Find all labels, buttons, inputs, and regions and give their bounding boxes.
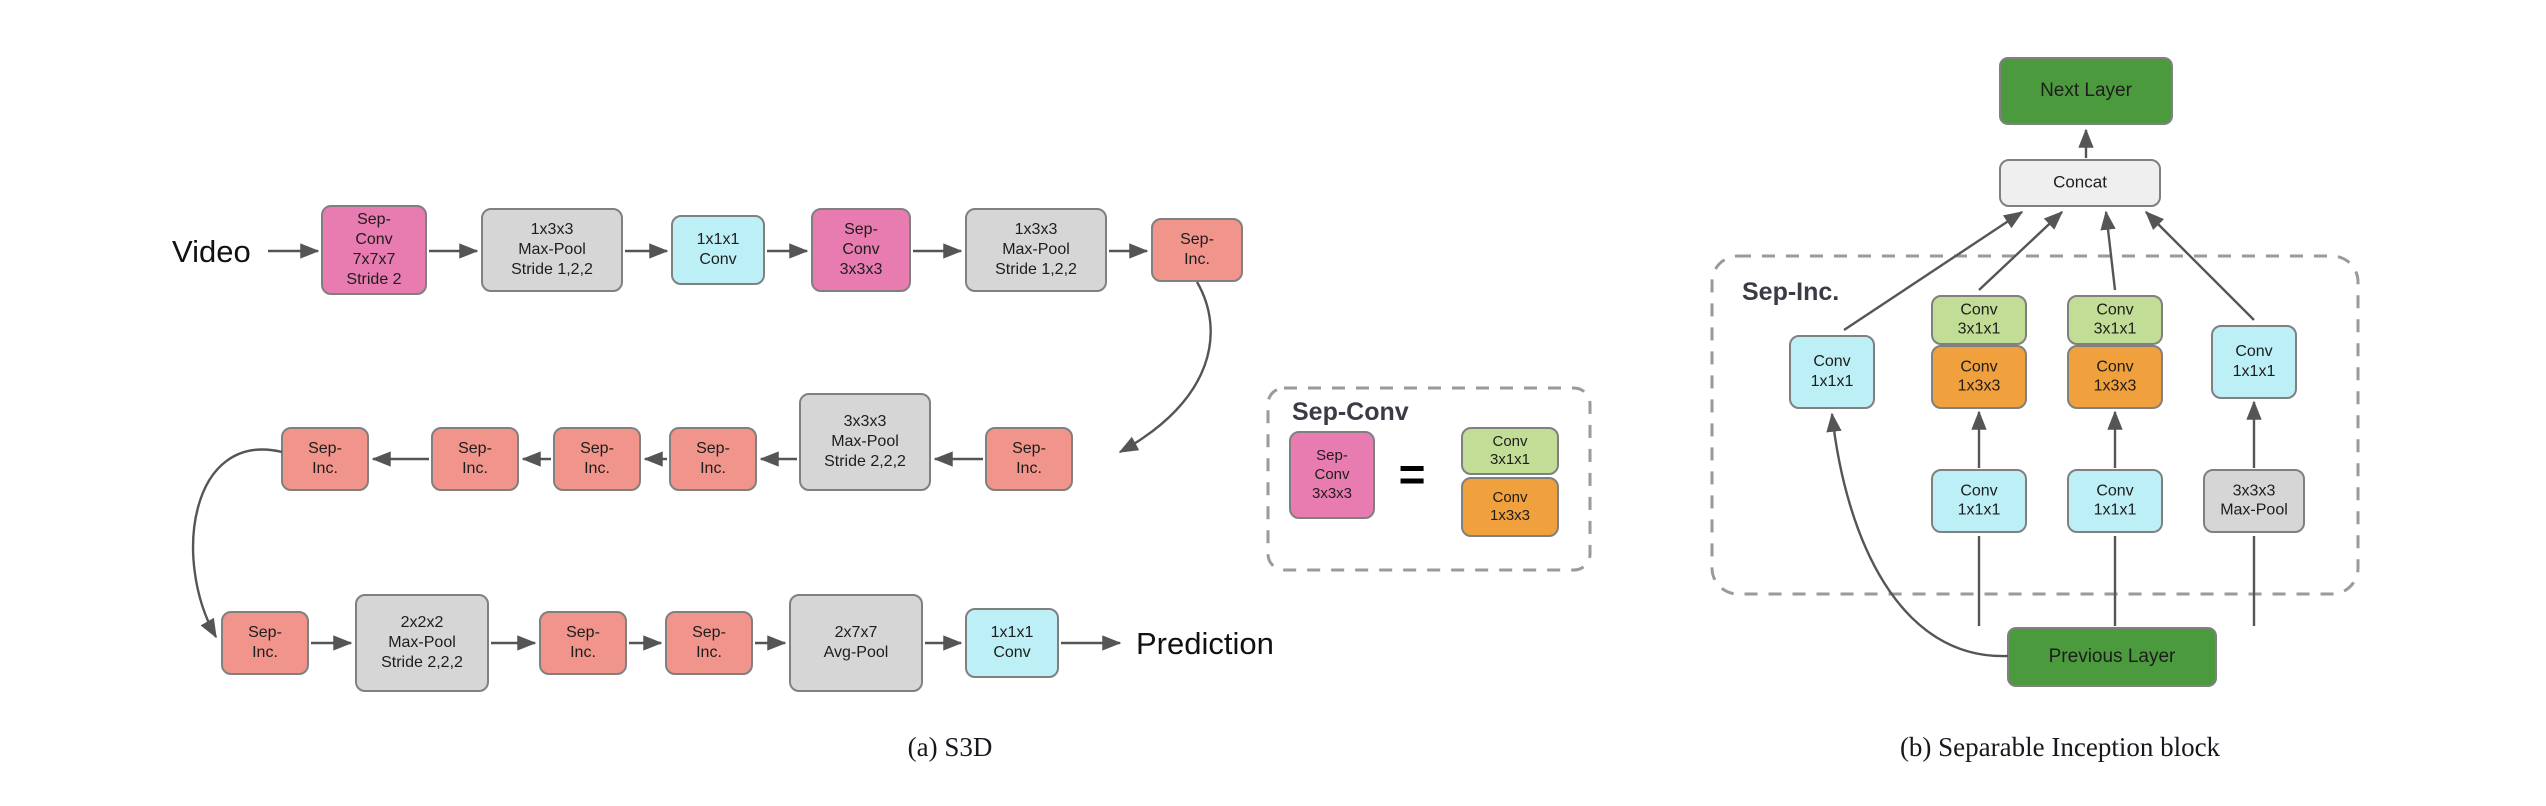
node-next-layer[interactable]: Next Layer bbox=[2000, 58, 2172, 124]
node-concat[interactable]: Concat bbox=[2000, 160, 2160, 206]
node-conv-1x1x1-a-shape bbox=[672, 216, 764, 284]
node-sep-inc-8[interactable]: Sep-Inc. bbox=[540, 612, 626, 674]
node-sep-inc-9-shape bbox=[666, 612, 752, 674]
node-b4-conv-1x1x1-shape bbox=[2212, 326, 2296, 398]
node-maxpool-1x3x3-a-line-1: Max-Pool bbox=[518, 241, 586, 258]
arrow-branch3-to-concat bbox=[2106, 212, 2115, 290]
node-maxpool-1x3x3-a-line-2: Stride 1,2,2 bbox=[511, 261, 593, 278]
node-avgpool-2x7x7-line-0: 2x7x7 bbox=[835, 624, 878, 641]
node-maxpool-1x3x3-b-line-1: Max-Pool bbox=[1002, 241, 1070, 258]
node-b2-conv-1x3x3[interactable]: Conv1x3x3 bbox=[1932, 346, 2026, 408]
node-sep-conv-7x7x7-line-3: Stride 2 bbox=[346, 271, 401, 288]
node-previous-layer-line-0: Previous Layer bbox=[2049, 646, 2176, 667]
node-sep-inc-7-line-0: Sep- bbox=[248, 624, 282, 641]
node-avgpool-2x7x7[interactable]: 2x7x7Avg-Pool bbox=[790, 595, 922, 691]
node-maxpool-3x3x3-line-2: Stride 2,2,2 bbox=[824, 453, 906, 470]
node-b2-conv-3x1x1-line-0: Conv bbox=[1960, 302, 1997, 319]
node-maxpool-1x3x3-b[interactable]: 1x3x3Max-PoolStride 1,2,2 bbox=[966, 209, 1106, 291]
node-b3-conv-3x1x1-line-1: 3x1x1 bbox=[2094, 321, 2137, 338]
node-b2-conv-1x1x1-line-1: 1x1x1 bbox=[1958, 502, 2001, 519]
node-sep-conv-3x3x3-line-1: Conv bbox=[842, 241, 879, 258]
input-label-video: Video bbox=[172, 234, 251, 269]
node-sep-conv-7x7x7-line-0: Sep- bbox=[357, 211, 391, 228]
legend-title: Sep-Conv bbox=[1292, 398, 1409, 426]
node-b3-conv-1x3x3[interactable]: Conv1x3x3 bbox=[2068, 346, 2162, 408]
node-sep-inc-2-shape bbox=[986, 428, 1072, 490]
node-sep-inc-6-shape bbox=[282, 428, 368, 490]
node-sep-conv-3x3x3-line-2: 3x3x3 bbox=[840, 261, 883, 278]
node-conv-1x1x1-final-shape bbox=[966, 609, 1058, 677]
node-b3-conv-1x1x1-line-1: 1x1x1 bbox=[2094, 502, 2137, 519]
node-maxpool-3x3x3-line-0: 3x3x3 bbox=[844, 413, 887, 430]
node-sep-inc-3[interactable]: Sep-Inc. bbox=[670, 428, 756, 490]
node-sep-inc-5-line-0: Sep- bbox=[458, 440, 492, 457]
node-conv-3x1x1-legend-line-0: Conv bbox=[1492, 433, 1528, 450]
node-sep-conv-3x3x3-line-0: Sep- bbox=[844, 221, 878, 238]
node-sep-conv-7x7x7-line-1: Conv bbox=[355, 231, 392, 248]
arrow-wrap-row1-to-row2 bbox=[1120, 282, 1211, 452]
arrow-branch2-to-concat bbox=[1979, 212, 2062, 290]
node-sep-inc-9-line-1: Inc. bbox=[696, 644, 722, 661]
node-maxpool-1x3x3-a[interactable]: 1x3x3Max-PoolStride 1,2,2 bbox=[482, 209, 622, 291]
node-b2-conv-3x1x1[interactable]: Conv3x1x1 bbox=[1932, 296, 2026, 344]
output-label-prediction: Prediction bbox=[1136, 626, 1274, 661]
node-maxpool-2x2x2[interactable]: 2x2x2Max-PoolStride 2,2,2 bbox=[356, 595, 488, 691]
node-avgpool-2x7x7-line-1: Avg-Pool bbox=[824, 644, 889, 661]
node-b4-conv-1x1x1[interactable]: Conv1x1x1 bbox=[2212, 326, 2296, 398]
node-sep-inc-7[interactable]: Sep-Inc. bbox=[222, 612, 308, 674]
node-sep-inc-1[interactable]: Sep-Inc. bbox=[1152, 219, 1242, 281]
node-conv-1x3x3-legend-line-0: Conv bbox=[1492, 489, 1528, 506]
node-sep-inc-5-line-1: Inc. bbox=[462, 460, 488, 477]
node-sep-inc-1-shape bbox=[1152, 219, 1242, 281]
node-sep-conv-7x7x7-line-2: 7x7x7 bbox=[353, 251, 396, 268]
node-sep-inc-2[interactable]: Sep-Inc. bbox=[986, 428, 1072, 490]
legend-equals-sign: = bbox=[1399, 448, 1426, 500]
network-diagram: Sep-Conv7x7x7Stride 21x3x3Max-PoolStride… bbox=[0, 0, 2546, 806]
node-b4-conv-1x1x1-line-1: 1x1x1 bbox=[2233, 363, 2276, 380]
node-conv-1x1x1-a[interactable]: 1x1x1Conv bbox=[672, 216, 764, 284]
node-sep-inc-3-shape bbox=[670, 428, 756, 490]
node-sep-conv-3x3x3-legend-line-0: Sep- bbox=[1316, 447, 1348, 464]
node-conv-1x1x1-final-line-1: Conv bbox=[993, 644, 1030, 661]
node-b3-conv-1x3x3-line-1: 1x3x3 bbox=[2094, 378, 2137, 395]
node-next-layer-line-0: Next Layer bbox=[2040, 80, 2133, 101]
node-sep-conv-3x3x3[interactable]: Sep-Conv3x3x3 bbox=[812, 209, 910, 291]
node-sep-inc-7-shape bbox=[222, 612, 308, 674]
node-b2-conv-1x3x3-line-1: 1x3x3 bbox=[1958, 378, 2001, 395]
node-b1-conv-1x1x1-shape bbox=[1790, 336, 1874, 408]
node-previous-layer[interactable]: Previous Layer bbox=[2008, 628, 2216, 686]
node-conv-1x3x3-legend[interactable]: Conv1x3x3 bbox=[1462, 478, 1558, 536]
node-maxpool-2x2x2-line-0: 2x2x2 bbox=[401, 614, 444, 631]
arrow-prev-to-branch1 bbox=[1832, 414, 2008, 656]
node-sep-inc-5[interactable]: Sep-Inc. bbox=[432, 428, 518, 490]
node-sep-inc-6-line-1: Inc. bbox=[312, 460, 338, 477]
node-sep-inc-4-shape bbox=[554, 428, 640, 490]
sep-inc-dashed-container bbox=[1712, 256, 2358, 594]
node-maxpool-2x2x2-line-2: Stride 2,2,2 bbox=[381, 654, 463, 671]
node-conv-1x1x1-a-line-1: Conv bbox=[699, 251, 736, 268]
node-sep-inc-8-shape bbox=[540, 612, 626, 674]
node-concat-line-0: Concat bbox=[2053, 172, 2107, 191]
node-maxpool-1x3x3-b-line-0: 1x3x3 bbox=[1015, 221, 1058, 238]
node-conv-3x1x1-legend-line-1: 3x1x1 bbox=[1490, 451, 1530, 468]
node-sep-inc-4-line-0: Sep- bbox=[580, 440, 614, 457]
node-sep-conv-7x7x7[interactable]: Sep-Conv7x7x7Stride 2 bbox=[322, 206, 426, 294]
node-b4-conv-1x1x1-line-0: Conv bbox=[2235, 343, 2272, 360]
node-sep-inc-3-line-1: Inc. bbox=[700, 460, 726, 477]
sep-inc-group-title: Sep-Inc. bbox=[1742, 278, 1839, 306]
caption-a: (a) S3D bbox=[908, 732, 993, 762]
figure-canvas: Sep-Conv7x7x7Stride 21x3x3Max-PoolStride… bbox=[0, 0, 2546, 806]
node-sep-inc-7-line-1: Inc. bbox=[252, 644, 278, 661]
node-conv-1x1x1-final-line-0: 1x1x1 bbox=[991, 624, 1034, 641]
node-conv-1x1x1-final[interactable]: 1x1x1Conv bbox=[966, 609, 1058, 677]
node-b3-conv-3x1x1[interactable]: Conv3x1x1 bbox=[2068, 296, 2162, 344]
node-sep-inc-2-line-0: Sep- bbox=[1012, 440, 1046, 457]
node-maxpool-3x3x3[interactable]: 3x3x3Max-PoolStride 2,2,2 bbox=[800, 394, 930, 490]
node-b2-conv-1x1x1[interactable]: Conv1x1x1 bbox=[1932, 470, 2026, 532]
node-sep-inc-6-line-0: Sep- bbox=[308, 440, 342, 457]
node-sep-inc-6[interactable]: Sep-Inc. bbox=[282, 428, 368, 490]
node-b4-maxpool-3x3x3-line-1: Max-Pool bbox=[2220, 502, 2288, 519]
node-avgpool-2x7x7-shape bbox=[790, 595, 922, 691]
node-sep-inc-3-line-0: Sep- bbox=[696, 440, 730, 457]
node-sep-inc-4[interactable]: Sep-Inc. bbox=[554, 428, 640, 490]
node-maxpool-3x3x3-line-1: Max-Pool bbox=[831, 433, 899, 450]
node-maxpool-2x2x2-line-1: Max-Pool bbox=[388, 634, 456, 651]
node-b3-conv-1x1x1-line-0: Conv bbox=[2096, 483, 2133, 500]
node-sep-conv-3x3x3-legend-line-1: Conv bbox=[1314, 466, 1350, 483]
node-sep-inc-2-line-1: Inc. bbox=[1016, 460, 1042, 477]
node-sep-inc-4-line-1: Inc. bbox=[584, 460, 610, 477]
node-sep-inc-9-line-0: Sep- bbox=[692, 624, 726, 641]
node-b4-maxpool-3x3x3-line-0: 3x3x3 bbox=[2233, 483, 2276, 500]
node-sep-inc-8-line-1: Inc. bbox=[570, 644, 596, 661]
node-b1-conv-1x1x1-line-1: 1x1x1 bbox=[1811, 373, 1854, 390]
node-b3-conv-1x3x3-line-0: Conv bbox=[2096, 359, 2133, 376]
node-b4-maxpool-3x3x3[interactable]: 3x3x3Max-Pool bbox=[2204, 470, 2304, 532]
arrow-wrap-row2-to-row3 bbox=[193, 450, 282, 637]
node-b2-conv-1x1x1-line-0: Conv bbox=[1960, 483, 1997, 500]
node-conv-1x1x1-a-line-0: 1x1x1 bbox=[697, 231, 740, 248]
node-b1-conv-1x1x1-line-0: Conv bbox=[1813, 353, 1850, 370]
node-maxpool-1x3x3-b-line-2: Stride 1,2,2 bbox=[995, 261, 1077, 278]
node-sep-inc-1-line-0: Sep- bbox=[1180, 231, 1214, 248]
node-b3-conv-1x1x1[interactable]: Conv1x1x1 bbox=[2068, 470, 2162, 532]
node-sep-inc-1-line-1: Inc. bbox=[1184, 251, 1210, 268]
node-sep-inc-8-line-0: Sep- bbox=[566, 624, 600, 641]
node-sep-inc-9[interactable]: Sep-Inc. bbox=[666, 612, 752, 674]
node-conv-1x3x3-legend-line-1: 1x3x3 bbox=[1490, 507, 1530, 524]
node-b3-conv-3x1x1-line-0: Conv bbox=[2096, 302, 2133, 319]
node-sep-conv-3x3x3-legend[interactable]: Sep-Conv3x3x3 bbox=[1290, 432, 1374, 518]
node-sep-conv-3x3x3-legend-line-2: 3x3x3 bbox=[1312, 485, 1352, 502]
node-b1-conv-1x1x1[interactable]: Conv1x1x1 bbox=[1790, 336, 1874, 408]
caption-b: (b) Separable Inception block bbox=[1900, 732, 2221, 762]
node-maxpool-1x3x3-a-line-0: 1x3x3 bbox=[531, 221, 574, 238]
node-b2-conv-1x3x3-line-0: Conv bbox=[1960, 359, 1997, 376]
node-conv-3x1x1-legend[interactable]: Conv3x1x1 bbox=[1462, 428, 1558, 474]
node-b2-conv-3x1x1-line-1: 3x1x1 bbox=[1958, 321, 2001, 338]
node-sep-inc-5-shape bbox=[432, 428, 518, 490]
